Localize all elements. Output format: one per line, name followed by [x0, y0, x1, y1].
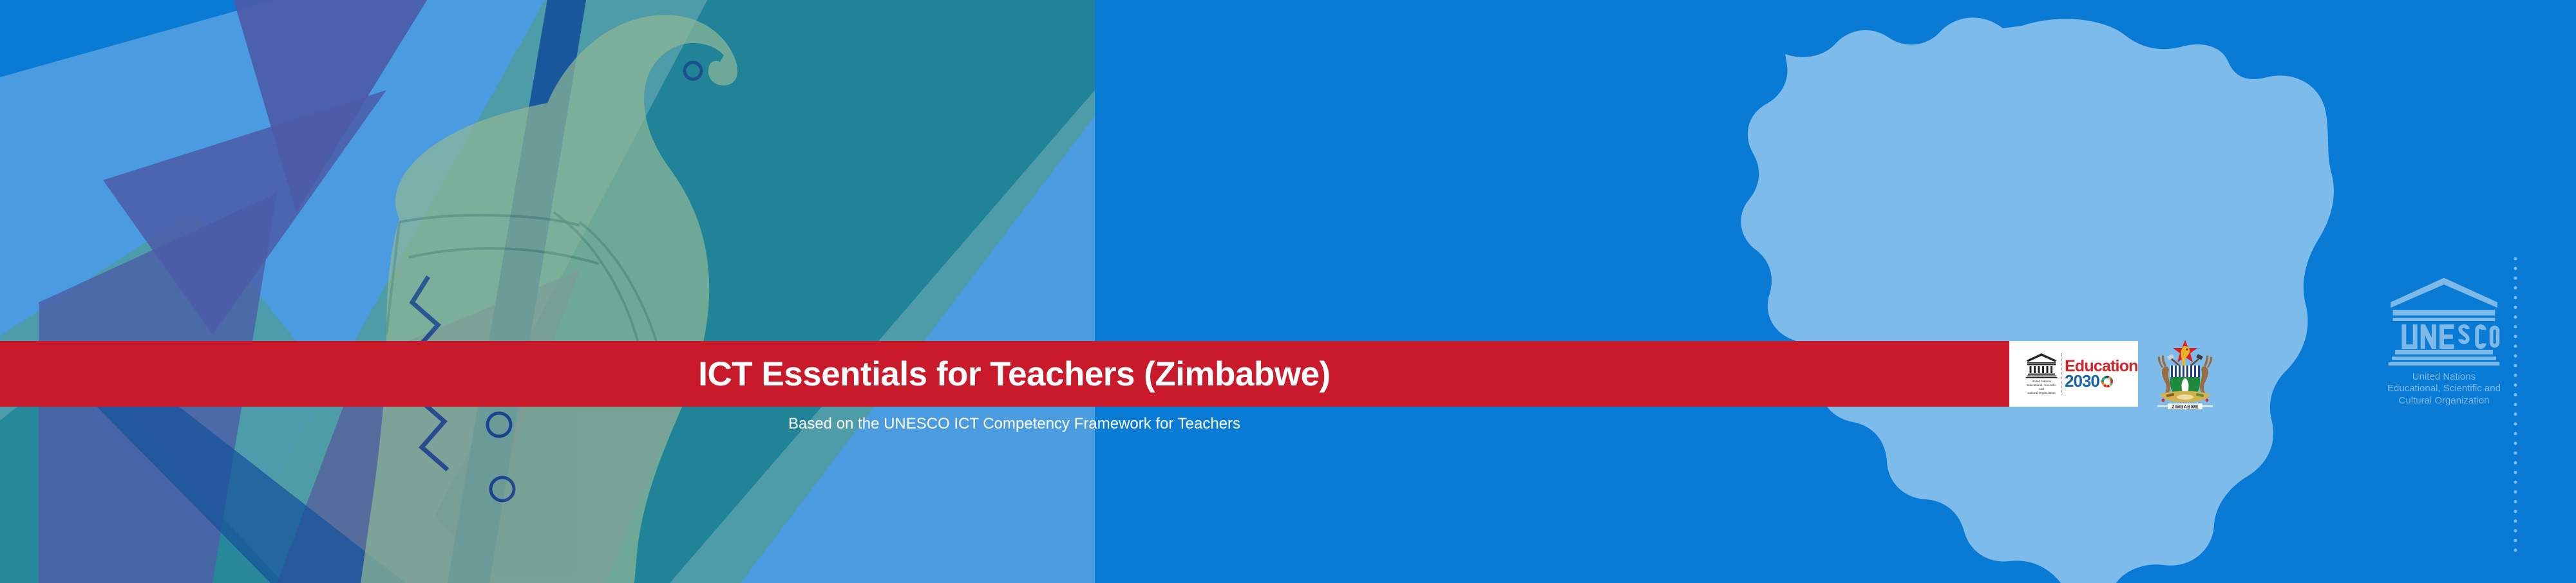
sdg-color-wheel-icon: [2100, 375, 2114, 389]
page-title: ICT Essentials for Teachers (Zimbabwe): [0, 341, 2009, 407]
unesco-watermark-caption: United Nations Educational, Scientific a…: [2387, 371, 2501, 407]
education-2030-wordmark: Education 2030: [2065, 359, 2138, 389]
unesco-mini-caption: United Nations Educational, Scientific a…: [2025, 380, 2058, 395]
logo-divider: [2061, 353, 2061, 394]
dotted-vertical-rule-icon: [2514, 257, 2517, 553]
year-2030: 2030: [2065, 374, 2099, 389]
page-subtitle: Based on the UNESCO ICT Competency Frame…: [0, 415, 2009, 433]
coat-of-arms-label: ZIMBABWE: [2172, 403, 2199, 409]
zimbabwe-coat-of-arms-icon: ZIMBABWE: [2145, 333, 2226, 414]
banner-root: ICT Essentials for Teachers (Zimbabwe) B…: [0, 0, 2576, 583]
unesco-temple-icon: United Nations Educational, Scientific a…: [2025, 353, 2058, 395]
background-artwork: [0, 0, 2576, 583]
unesco-watermark-logo: United Nations Educational, Scientific a…: [2383, 277, 2505, 407]
unesco-temple-icon: [2388, 277, 2500, 366]
education-2030-logo: United Nations Educational, Scientific a…: [2009, 341, 2138, 407]
